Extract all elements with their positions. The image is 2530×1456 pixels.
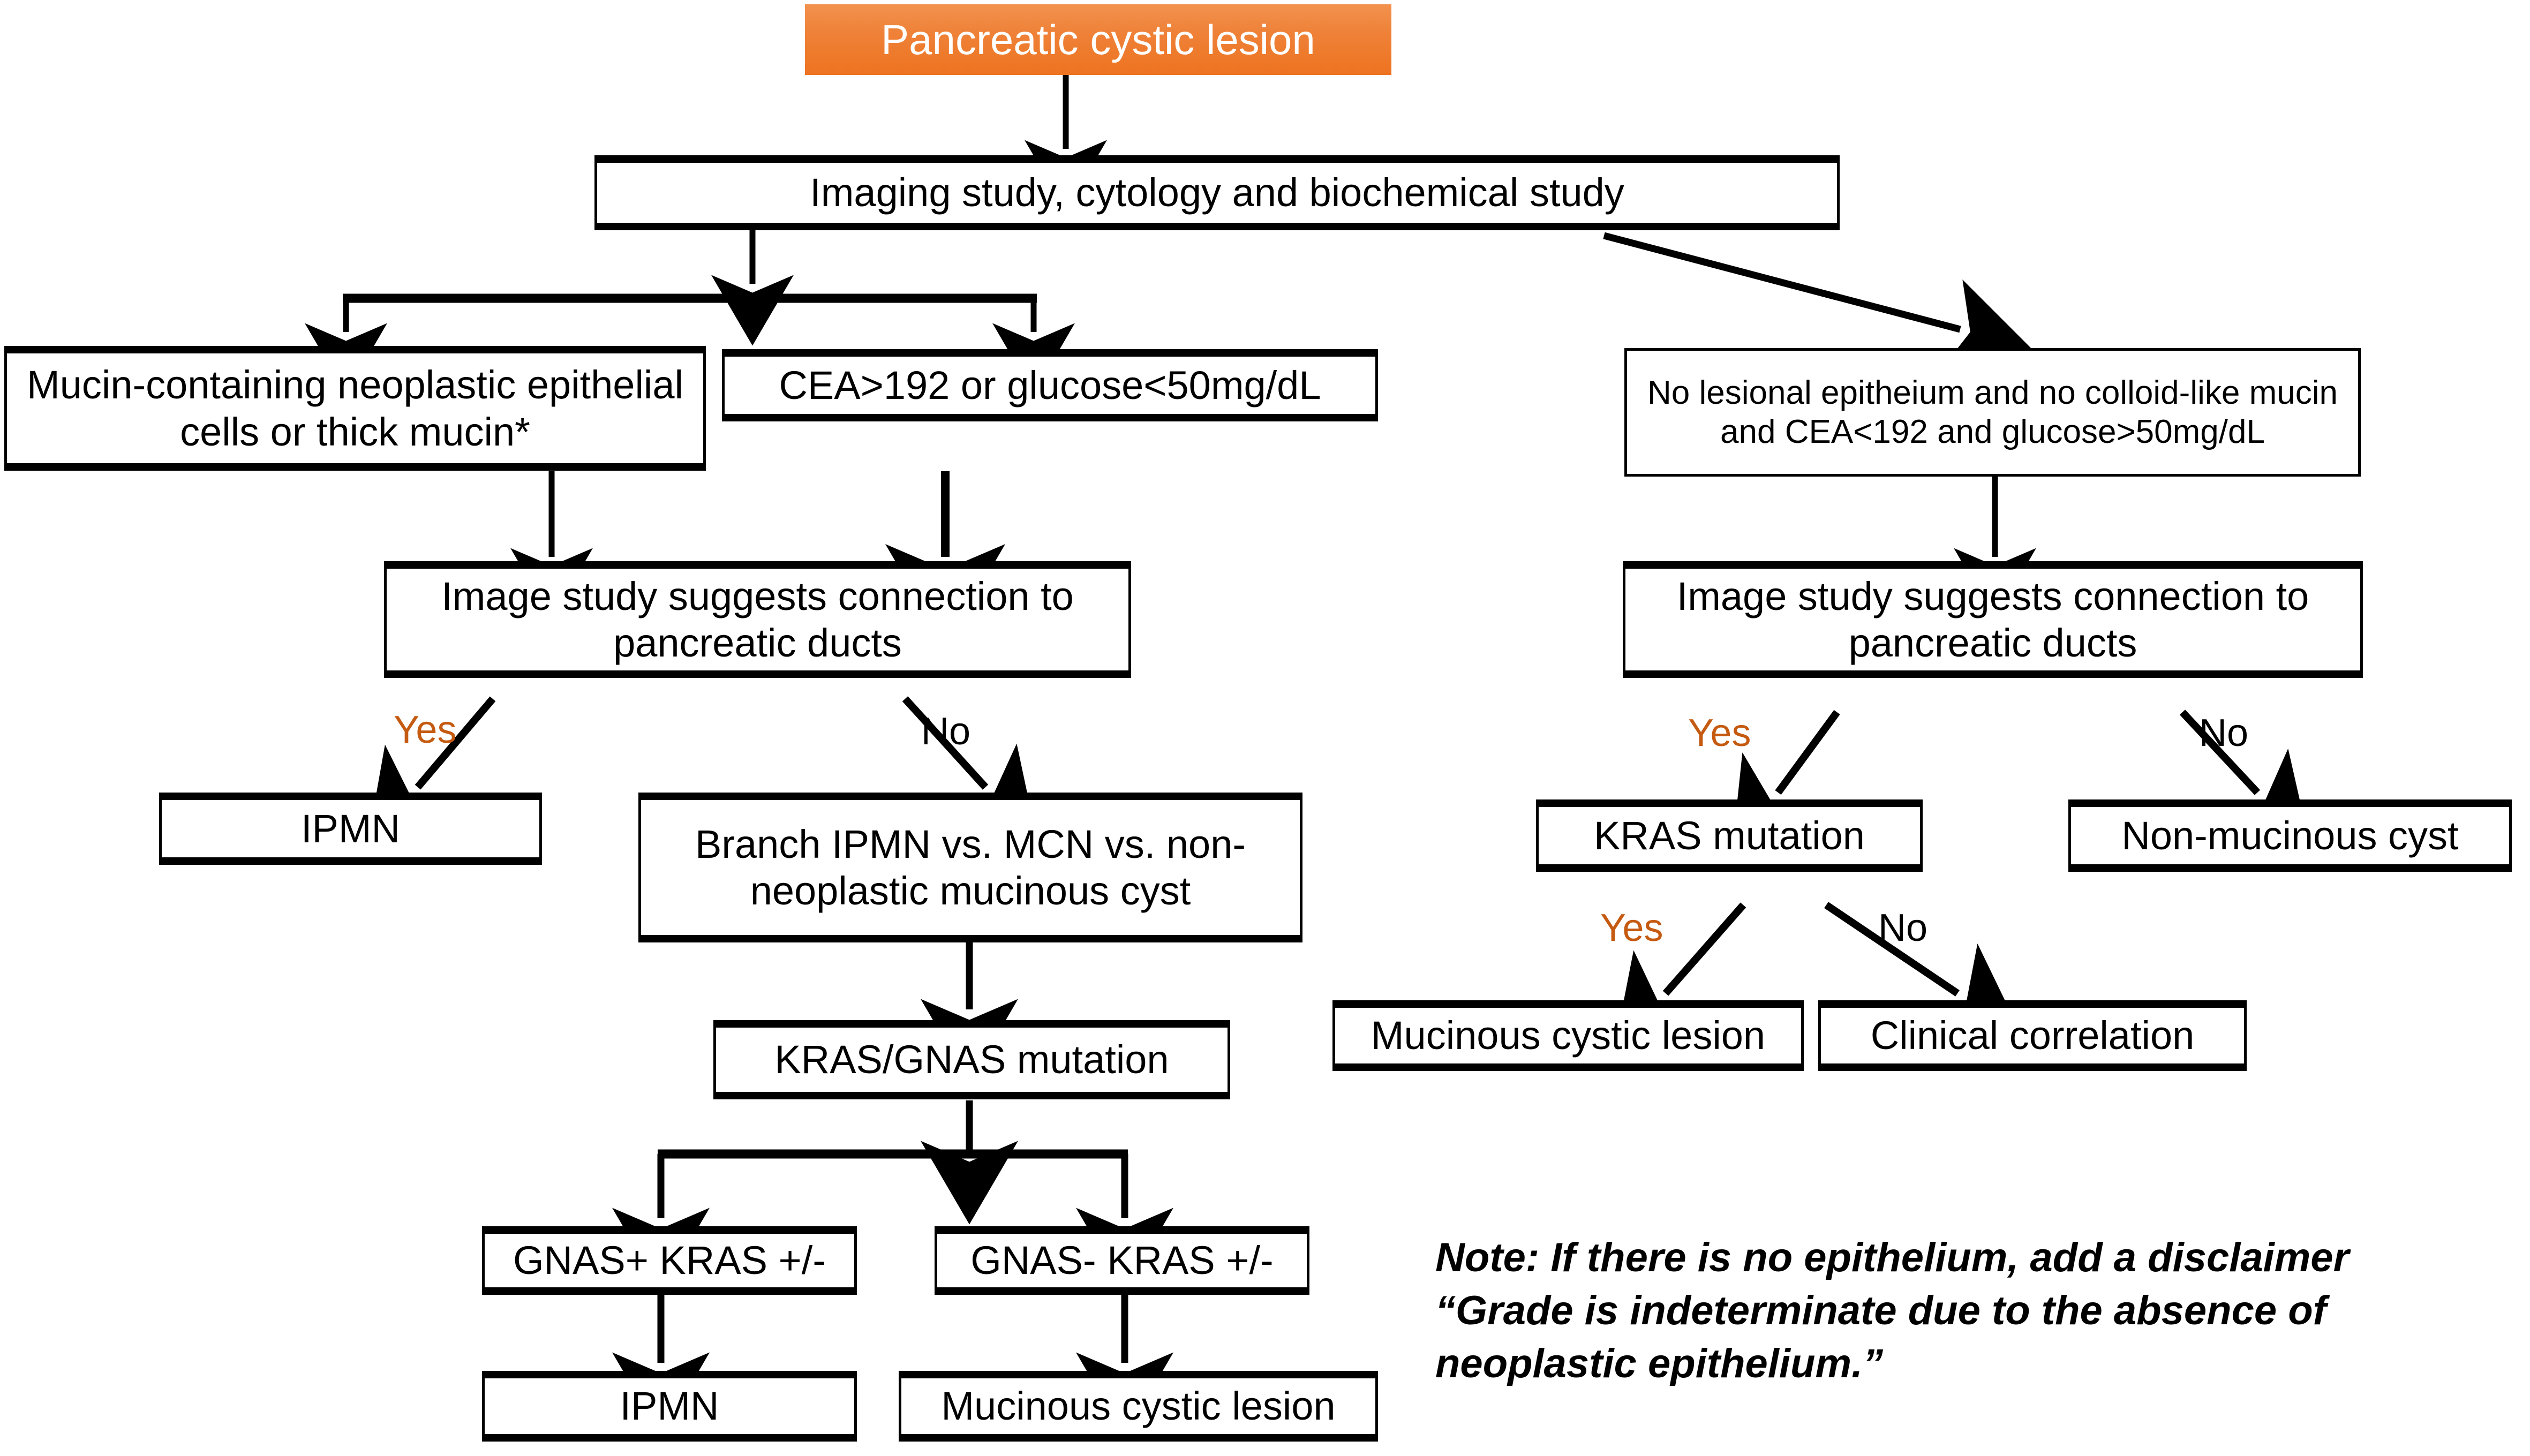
node-mucinous-cystic-lesion-bottom[interactable]: Mucinous cystic lesion bbox=[899, 1371, 1378, 1442]
node-label: Clinical correlation bbox=[1871, 1012, 2195, 1059]
node-duct-connection-right[interactable]: Image study suggests connection to pancr… bbox=[1623, 561, 2363, 678]
edge-workup-to-no-epithelium bbox=[1604, 236, 1960, 329]
node-label: Mucinous cystic lesion bbox=[1371, 1012, 1765, 1059]
node-clinical-correlation[interactable]: Clinical correlation bbox=[1818, 1000, 2247, 1071]
edge-label-text: Yes bbox=[394, 708, 456, 751]
edge-label-left-duct-yes: Yes bbox=[394, 708, 456, 752]
node-label: Branch IPMN vs. MCN vs. non-neoplastic m… bbox=[649, 821, 1292, 915]
node-mucinous-cystic-lesion-right[interactable]: Mucinous cystic lesion bbox=[1332, 1000, 1804, 1071]
node-label: Mucin-containing neoplastic epithelial c… bbox=[14, 361, 696, 455]
node-cea-glucose-positive[interactable]: CEA>192 or glucose<50mg/dL bbox=[722, 349, 1378, 421]
node-pancreatic-cystic-lesion[interactable]: Pancreatic cystic lesion bbox=[805, 4, 1391, 75]
edge-label-kras-no: No bbox=[1878, 906, 1927, 950]
edge-label-text: Yes bbox=[1688, 712, 1751, 755]
node-ipmn-left[interactable]: IPMN bbox=[159, 793, 542, 865]
edge-label-left-duct-no: No bbox=[921, 710, 970, 753]
node-label: Pancreatic cystic lesion bbox=[881, 16, 1315, 64]
node-label: Image study suggests connection to pancr… bbox=[394, 573, 1121, 667]
disclaimer-note: Note: If there is no epithelium, add a d… bbox=[1435, 1232, 2356, 1390]
edge-label-right-duct-no: No bbox=[2199, 711, 2248, 755]
node-kras-mutation-right[interactable]: KRAS mutation bbox=[1536, 799, 1923, 872]
node-label: Mucinous cystic lesion bbox=[941, 1383, 1335, 1429]
node-gnas-negative[interactable]: GNAS- KRAS +/- bbox=[935, 1226, 1309, 1295]
disclaimer-note-text: Note: If there is no epithelium, add a d… bbox=[1435, 1235, 2349, 1386]
node-ipmn-bottom[interactable]: IPMN bbox=[482, 1371, 857, 1442]
edge-label-text: No bbox=[921, 710, 970, 753]
flowchart-canvas: Pancreatic cystic lesion Imaging study, … bbox=[0, 0, 2530, 1456]
node-label: IPMN bbox=[301, 805, 400, 852]
node-label: No lesional epitheium and no colloid-lik… bbox=[1635, 373, 2351, 451]
node-label: KRAS/GNAS mutation bbox=[774, 1036, 1169, 1083]
node-label: GNAS+ KRAS +/- bbox=[513, 1237, 826, 1284]
edge-label-text: No bbox=[1878, 907, 1927, 949]
node-label: KRAS mutation bbox=[1594, 812, 1865, 859]
node-non-mucinous-cyst[interactable]: Non-mucinous cyst bbox=[2068, 799, 2512, 872]
node-no-lesional-epithelium[interactable]: No lesional epitheium and no colloid-lik… bbox=[1624, 348, 2361, 477]
node-gnas-positive[interactable]: GNAS+ KRAS +/- bbox=[482, 1226, 857, 1295]
node-label: Image study suggests connection to pancr… bbox=[1633, 573, 2353, 667]
node-label: Non-mucinous cyst bbox=[2121, 812, 2458, 859]
node-imaging-study[interactable]: Imaging study, cytology and biochemical … bbox=[594, 155, 1840, 230]
node-label: CEA>192 or glucose<50mg/dL bbox=[779, 362, 1321, 409]
node-branch-ipmn-mcn[interactable]: Branch IPMN vs. MCN vs. non-neoplastic m… bbox=[638, 793, 1302, 942]
edge-label-text: Yes bbox=[1600, 907, 1663, 949]
node-duct-connection-left[interactable]: Image study suggests connection to pancr… bbox=[384, 561, 1131, 678]
edge-right-duct-yes bbox=[1778, 712, 1837, 793]
node-label: GNAS- KRAS +/- bbox=[970, 1237, 1273, 1284]
node-kras-gnas-mutation[interactable]: KRAS/GNAS mutation bbox=[713, 1020, 1230, 1099]
node-label: Imaging study, cytology and biochemical … bbox=[810, 169, 1624, 216]
edge-label-text: No bbox=[2199, 712, 2248, 755]
node-mucin-containing-cells[interactable]: Mucin-containing neoplastic epithelial c… bbox=[4, 346, 706, 471]
edge-label-right-duct-yes: Yes bbox=[1688, 711, 1751, 755]
edge-kras-yes bbox=[1666, 905, 1743, 993]
node-label: IPMN bbox=[620, 1383, 719, 1429]
edge-label-kras-yes: Yes bbox=[1600, 906, 1663, 950]
